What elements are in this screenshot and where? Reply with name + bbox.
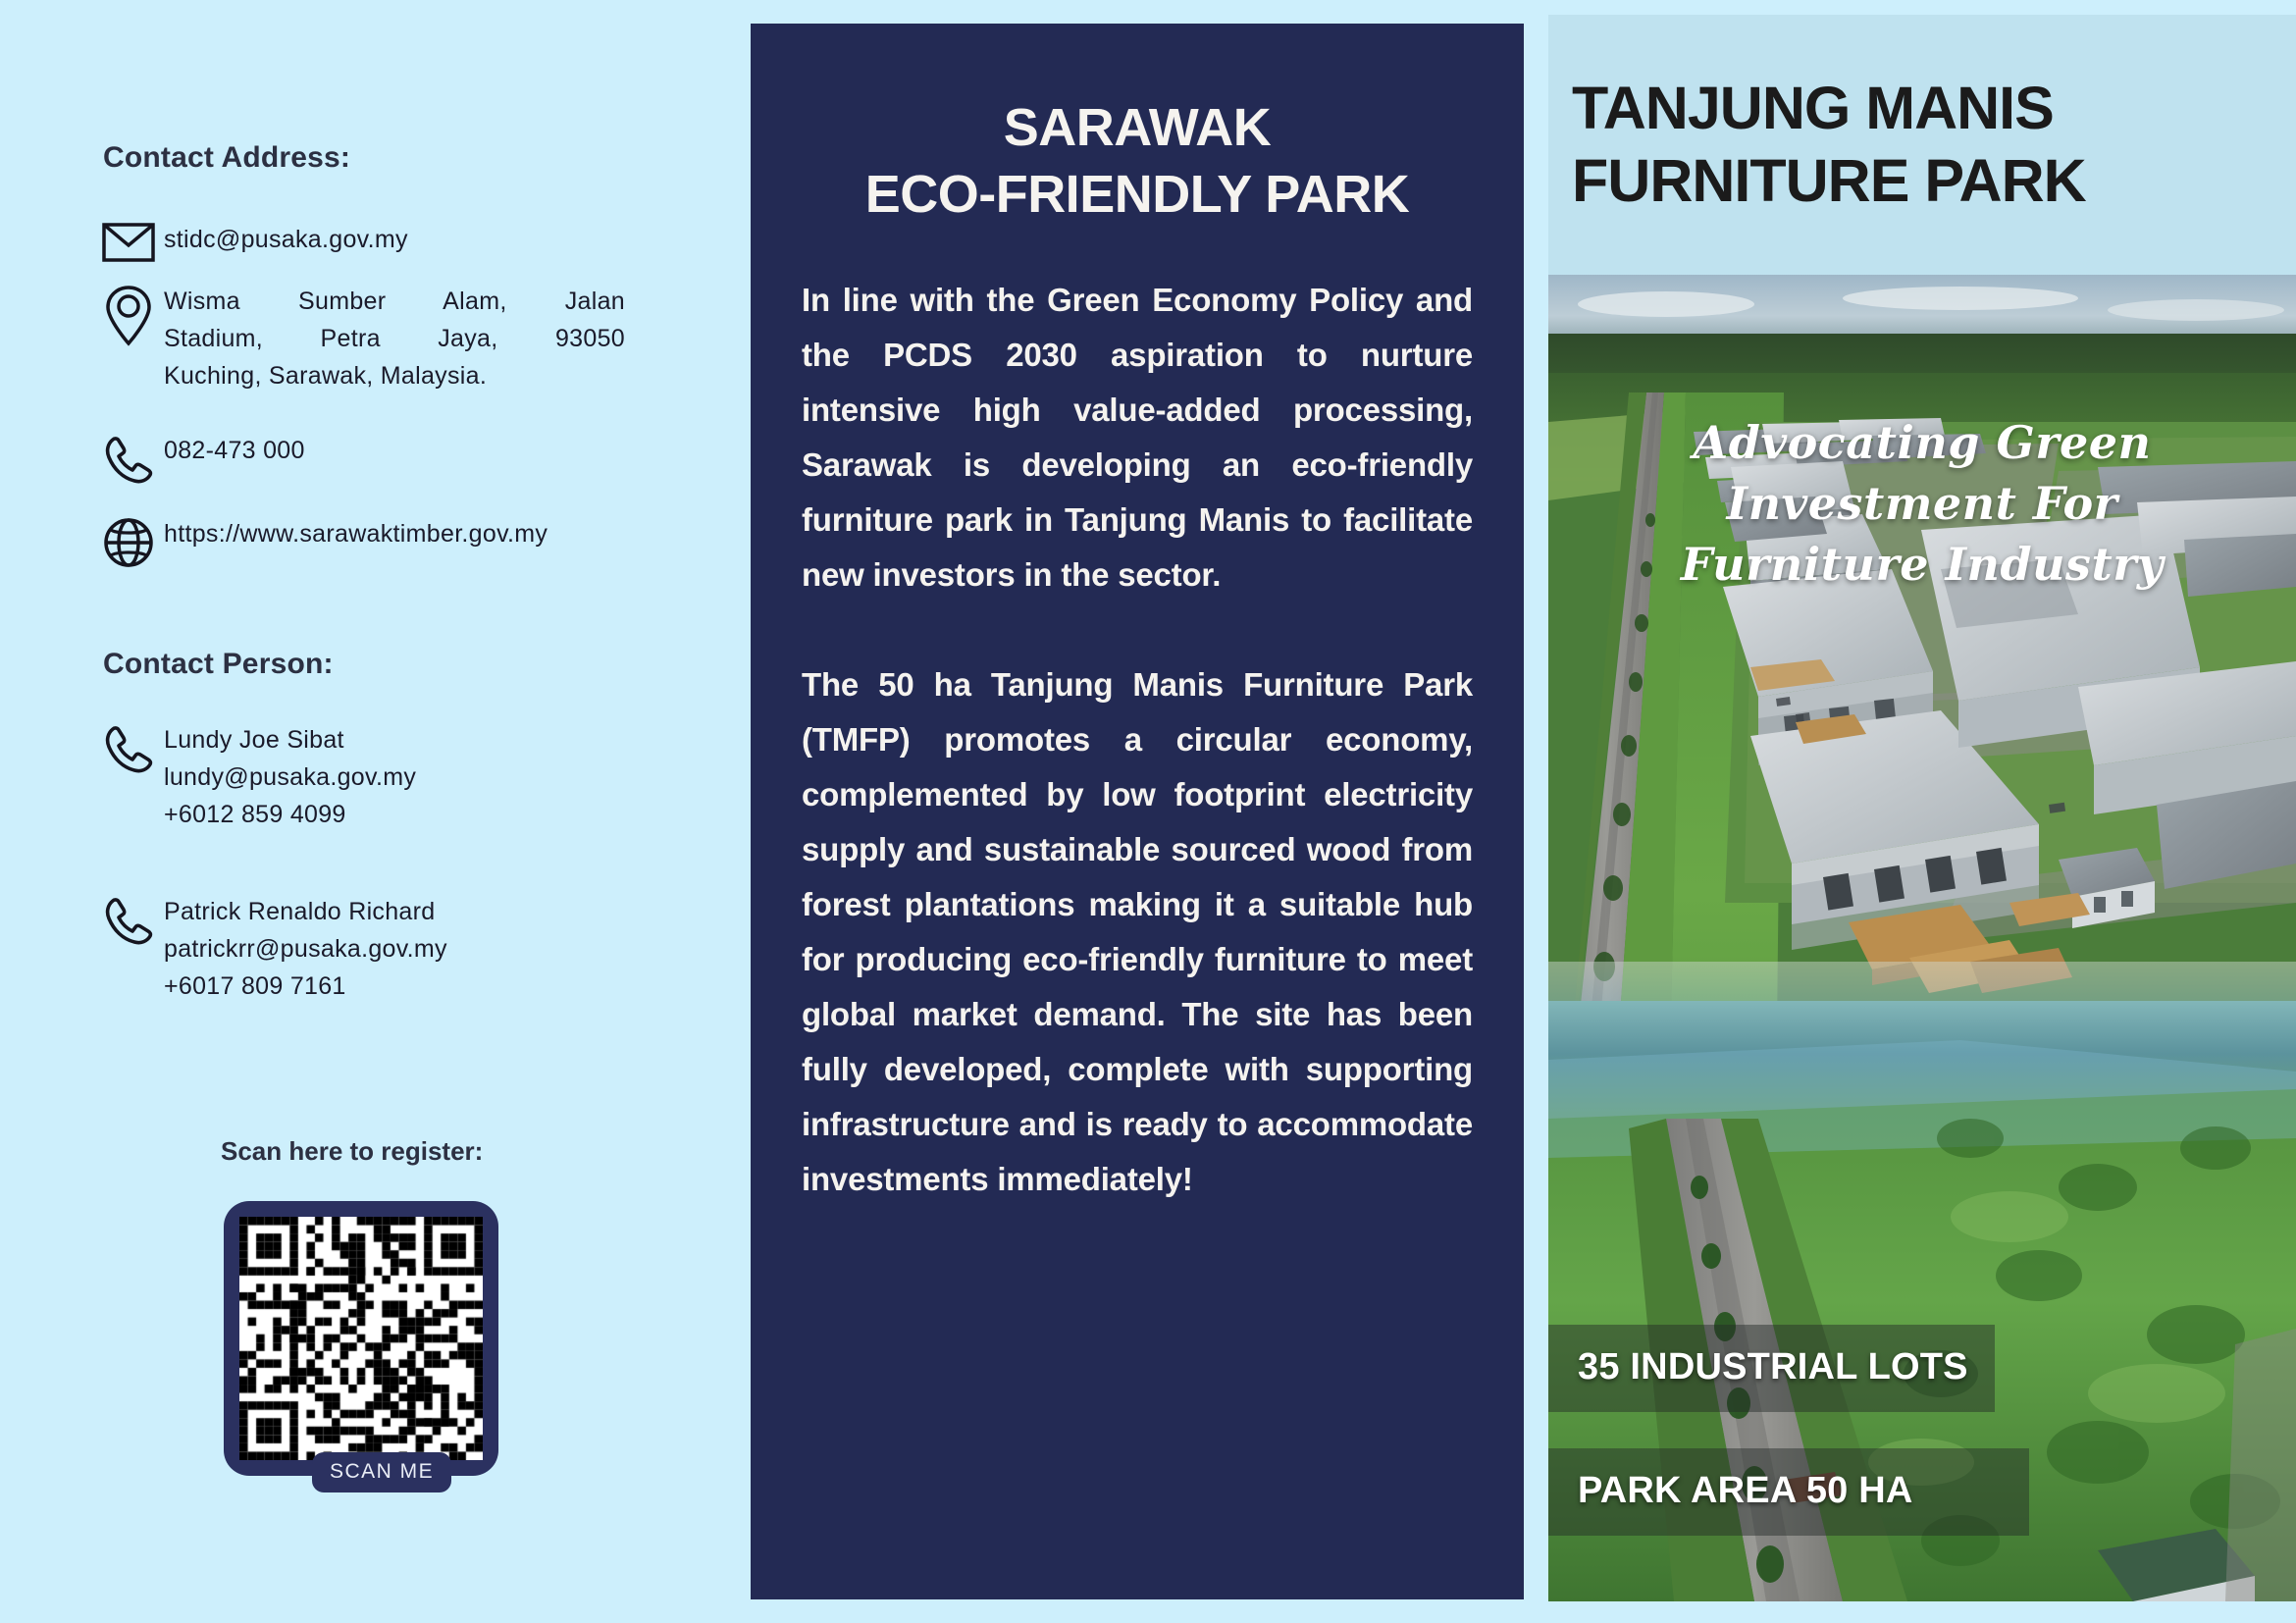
center-panel: SARAWAK ECO-FRIENDLY PARK In line with t… (751, 24, 1524, 1599)
center-panel-title: SARAWAK ECO-FRIENDLY PARK (802, 94, 1473, 228)
envelope-icon (93, 221, 164, 262)
caption-park-area: PARK AREA 50 HA (1548, 1448, 2029, 1536)
contact-phone[interactable]: 082-473 000 (164, 432, 305, 469)
contact-row-website: https://www.sarawaktimber.gov.my (93, 515, 548, 568)
contact-address: Wisma Sumber Alam, Jalan Stadium, Petra … (164, 283, 625, 394)
person-2-phone[interactable]: +6017 809 7161 (164, 968, 447, 1005)
tagline-line-1: Advocating Green Investment For (1548, 412, 2296, 534)
caption-industrial-lots: 35 INDUSTRIAL LOTS (1548, 1325, 1995, 1412)
right-panel-title: TANJUNG MANIS FURNITURE PARK (1548, 15, 2296, 217)
contact-row-address: Wisma Sumber Alam, Jalan Stadium, Petra … (93, 283, 625, 394)
person-1-email[interactable]: lundy@pusaka.gov.my (164, 759, 416, 796)
person-1-name: Lundy Joe Sibat (164, 721, 416, 759)
address-line-2: Stadium, Petra Jaya, 93050 (164, 320, 625, 357)
right-title-line-2: FURNITURE PARK (1572, 144, 2272, 217)
contact-panel: Contact Address: stidc@pusaka.gov.my Wis… (0, 0, 751, 1623)
address-line-1: Wisma Sumber Alam, Jalan (164, 283, 625, 320)
contact-row-email: stidc@pusaka.gov.my (93, 221, 408, 262)
phone-icon (93, 893, 164, 946)
contact-person-1: Lundy Joe Sibat lundy@pusaka.gov.my +601… (93, 721, 416, 833)
qr-code-image[interactable] (239, 1217, 483, 1460)
brochure-page: Contact Address: stidc@pusaka.gov.my Wis… (0, 0, 2296, 1623)
contact-address-heading: Contact Address: (103, 141, 350, 175)
contact-person-2-details: Patrick Renaldo Richard patrickrr@pusaka… (164, 893, 447, 1005)
person-2-email[interactable]: patrickrr@pusaka.gov.my (164, 930, 447, 968)
globe-icon (93, 515, 164, 568)
phone-icon (93, 721, 164, 774)
tagline-line-2: Furniture Industry (1548, 534, 2296, 595)
address-line-3: Kuching, Sarawak, Malaysia. (164, 357, 625, 394)
contact-person-1-details: Lundy Joe Sibat lundy@pusaka.gov.my +601… (164, 721, 416, 833)
person-1-phone[interactable]: +6012 859 4099 (164, 796, 416, 833)
scan-heading: Scan here to register: (221, 1136, 483, 1167)
contact-website[interactable]: https://www.sarawaktimber.gov.my (164, 515, 548, 552)
contact-row-phone: 082-473 000 (93, 432, 305, 485)
right-title-line-1: TANJUNG MANIS (1572, 72, 2272, 144)
contact-email[interactable]: stidc@pusaka.gov.my (164, 221, 408, 258)
phone-icon (93, 432, 164, 485)
person-2-name: Patrick Renaldo Richard (164, 893, 447, 930)
center-title-line-1: SARAWAK (802, 94, 1473, 161)
center-paragraph-1: In line with the Green Economy Policy an… (802, 273, 1473, 602)
contact-person-heading: Contact Person: (103, 648, 334, 681)
center-paragraph-2: The 50 ha Tanjung Manis Furniture Park (… (802, 657, 1473, 1207)
contact-person-2: Patrick Renaldo Richard patrickrr@pusaka… (93, 893, 447, 1005)
scan-me-badge: SCAN ME (312, 1452, 451, 1492)
center-title-line-2: ECO-FRIENDLY PARK (802, 161, 1473, 228)
qr-code[interactable] (224, 1201, 498, 1476)
map-pin-icon (93, 283, 164, 347)
photo-tagline: Advocating Green Investment For Furnitur… (1548, 412, 2296, 595)
